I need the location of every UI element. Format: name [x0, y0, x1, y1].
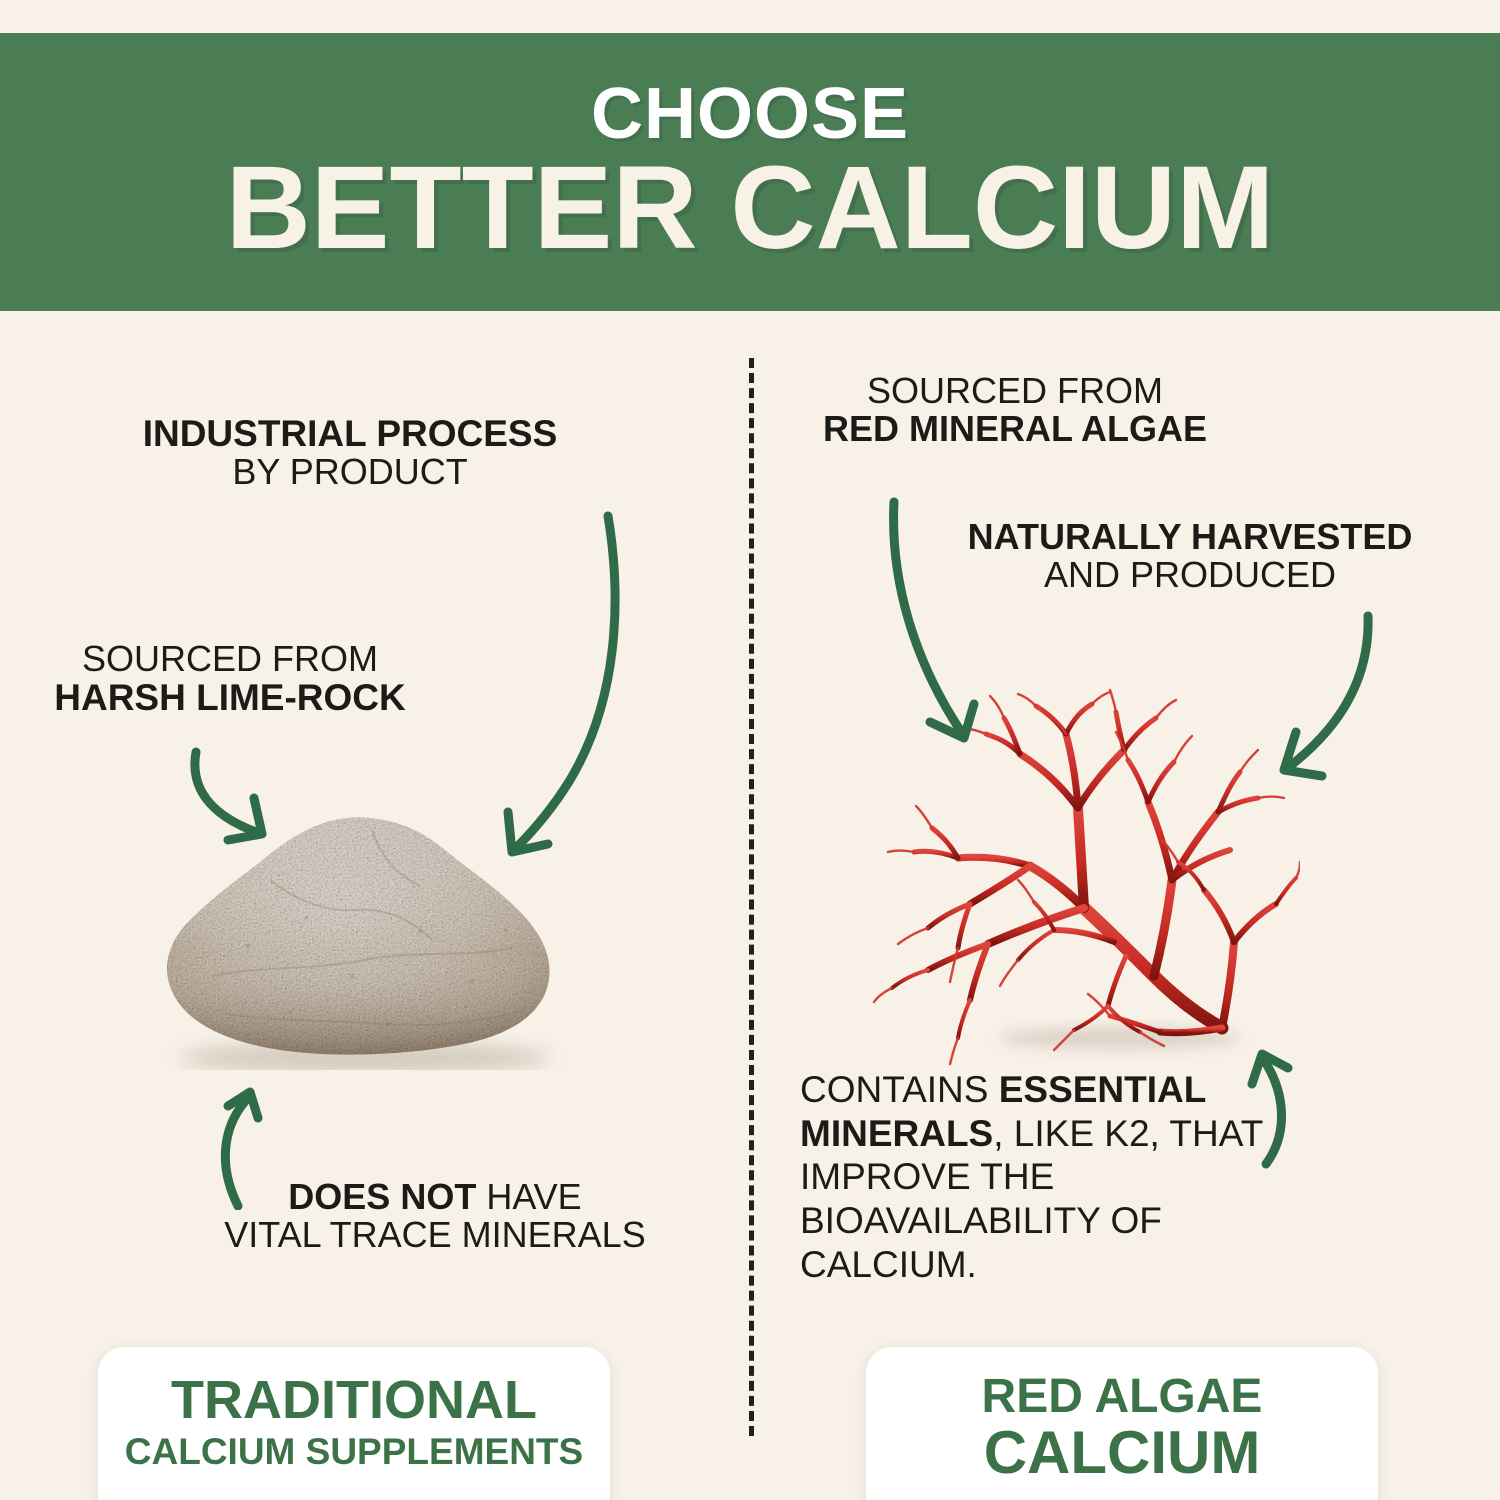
red-algae-image [870, 680, 1300, 1070]
callout-lime-line2: HARSH LIME-ROCK [10, 678, 450, 717]
callout-harvested-line2: AND PRODUCED [895, 556, 1485, 594]
header-banner: CHOOSE BETTER CALCIUM [0, 33, 1500, 311]
lime-rock-illustration [120, 770, 600, 1070]
callout-industrial-line1: INDUSTRIAL PROCESS [0, 414, 700, 453]
card-traditional-line2: CALCIUM SUPPLEMENTS [125, 1433, 583, 1470]
callout-industrial-process: INDUSTRIAL PROCESS BY PRODUCT [0, 414, 700, 491]
callout-notrace-line2: VITAL TRACE MINERALS [175, 1216, 695, 1254]
callout-lime-line1: SOURCED FROM [10, 640, 450, 678]
header-title-line1: CHOOSE [591, 79, 909, 150]
card-traditional-calcium[interactable]: TRADITIONAL CALCIUM SUPPLEMENTS [98, 1347, 610, 1500]
callout-no-trace-minerals: DOES NOT HAVE VITAL TRACE MINERALS [175, 1178, 695, 1254]
callout-notrace-line1-rest: HAVE [476, 1176, 581, 1217]
card-red-algae-calcium[interactable]: RED ALGAE CALCIUM [866, 1347, 1378, 1500]
infographic-root: CHOOSE BETTER CALCIUM INDUSTRIAL PROCESS… [0, 0, 1500, 1500]
callout-notrace-emphasis: DOES NOT [288, 1176, 476, 1217]
red-algae-illustration [870, 680, 1300, 1070]
lime-rock-image [120, 770, 600, 1070]
callout-algae-line2: RED MINERAL ALGAE [760, 410, 1270, 448]
callout-essential-minerals: CONTAINS ESSENTIAL MINERALS, LIKE K2, TH… [800, 1068, 1270, 1286]
card-traditional-line1: TRADITIONAL [171, 1373, 537, 1427]
callout-notrace-line1: DOES NOT HAVE [175, 1178, 695, 1216]
card-red-algae-line2: CALCIUM [984, 1423, 1261, 1483]
callout-algae-line1: SOURCED FROM [760, 372, 1270, 410]
callout-harvested-line1: NATURALLY HARVESTED [895, 518, 1485, 556]
callout-harsh-lime-rock: SOURCED FROM HARSH LIME-ROCK [10, 640, 450, 717]
callout-naturally-harvested: NATURALLY HARVESTED AND PRODUCED [895, 518, 1485, 594]
callout-essential-seg1: CONTAINS [800, 1069, 999, 1110]
card-red-algae-line1: RED ALGAE [982, 1373, 1263, 1421]
callout-industrial-line2: BY PRODUCT [0, 453, 700, 491]
callout-sourced-red-mineral-algae: SOURCED FROM RED MINERAL ALGAE [760, 372, 1270, 448]
header-title-line2: BETTER CALCIUM [226, 152, 1275, 265]
